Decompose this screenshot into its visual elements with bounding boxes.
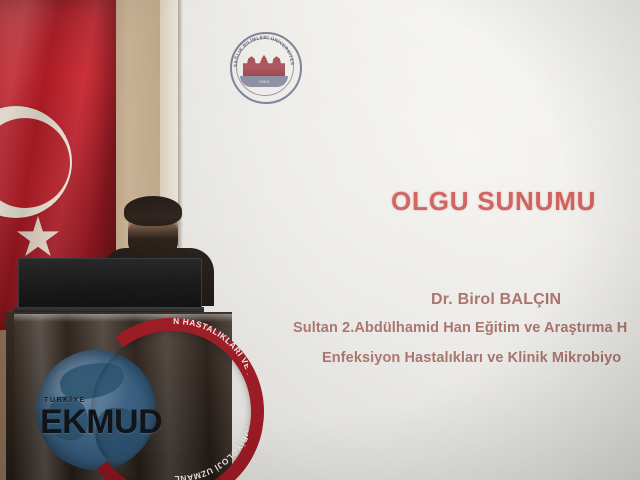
logo-arc-text-svg: SAĞLIK BİLİMLERİ ÜNİVERSİTESİ — [230, 32, 298, 100]
laptop-screen — [18, 258, 202, 314]
speaker-beard — [128, 222, 178, 262]
slide-title: OLGU SUNUMU — [391, 186, 596, 217]
slide-affiliation-line-2: Enfeksiyon Hastalıkları ve Klinik Mikrob… — [322, 350, 621, 366]
logo-arc-label: SAĞLIK BİLİMLERİ ÜNİVERSİTESİ — [230, 32, 295, 67]
banner-top-highlight — [14, 314, 232, 322]
university-logo: 1963 SAĞLIK BİLİMLERİ ÜNİVERSİTESİ — [226, 32, 302, 100]
speaker-hair — [124, 196, 182, 226]
svg-text:SAĞLIK BİLİMLERİ ÜNİVERSİTESİ: SAĞLIK BİLİMLERİ ÜNİVERSİTESİ — [230, 32, 295, 67]
presentation-photo: 1963 SAĞLIK BİLİMLERİ ÜNİVERSİTESİ OLGU … — [0, 0, 640, 480]
slide-affiliation-line-1: Sultan 2.Abdülhamid Han Eğitim ve Araştı… — [293, 320, 627, 336]
slide-presenter-name: Dr. Birol BALÇIN — [431, 291, 561, 309]
